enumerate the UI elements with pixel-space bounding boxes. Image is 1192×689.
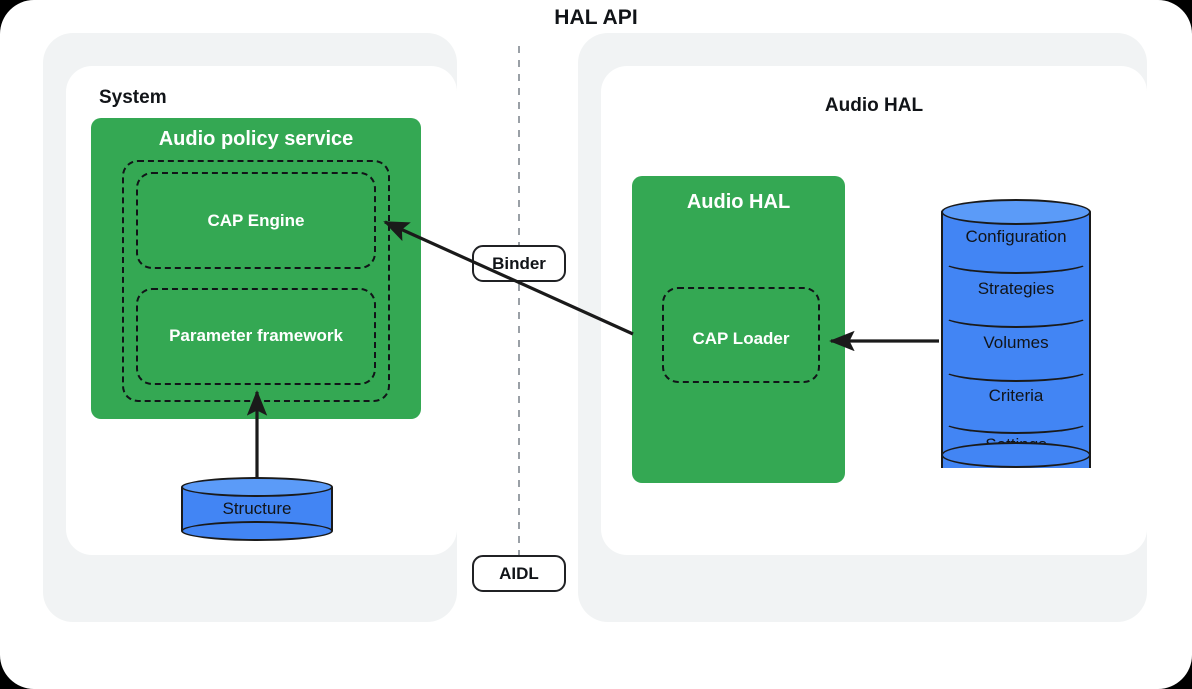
cylinder-bottom-ellipse [181, 521, 333, 541]
protocol-pill-binder[interactable]: Binder [472, 245, 566, 282]
diagram-canvas: HAL API System Audio HAL Audio policy se… [0, 0, 1192, 689]
cylinder-divider-2 [941, 302, 1091, 328]
legend: Legend: Configuration data Software Prot… [0, 613, 1192, 665]
cylinder-divider-1 [941, 248, 1091, 274]
audio-policy-service-label: Audio policy service [91, 128, 421, 151]
hal-api-divider [518, 46, 520, 559]
structure-database-cylinder: Structure [181, 477, 333, 541]
protocol-pill-aidl[interactable]: AIDL [472, 555, 566, 592]
cylinder-top-ellipse [941, 199, 1091, 225]
cylinder-top-ellipse [181, 477, 333, 497]
system-card-title: System [99, 87, 167, 109]
audio-hal-box-label: Audio HAL [632, 191, 845, 214]
audio-hal-card-title: Audio HAL [601, 95, 1147, 117]
cap-loader-label: CAP Loader [662, 329, 820, 349]
configuration-database-cylinder: Configuration Strategies Volumes Criteri… [941, 199, 1091, 468]
cylinder-divider-3 [941, 356, 1091, 382]
cylinder-divider-4 [941, 408, 1091, 434]
page-title: HAL API [0, 6, 1192, 30]
parameter-framework-label: Parameter framework [136, 326, 376, 346]
cap-engine-label: CAP Engine [136, 211, 376, 231]
cylinder-bottom-ellipse [941, 442, 1091, 468]
